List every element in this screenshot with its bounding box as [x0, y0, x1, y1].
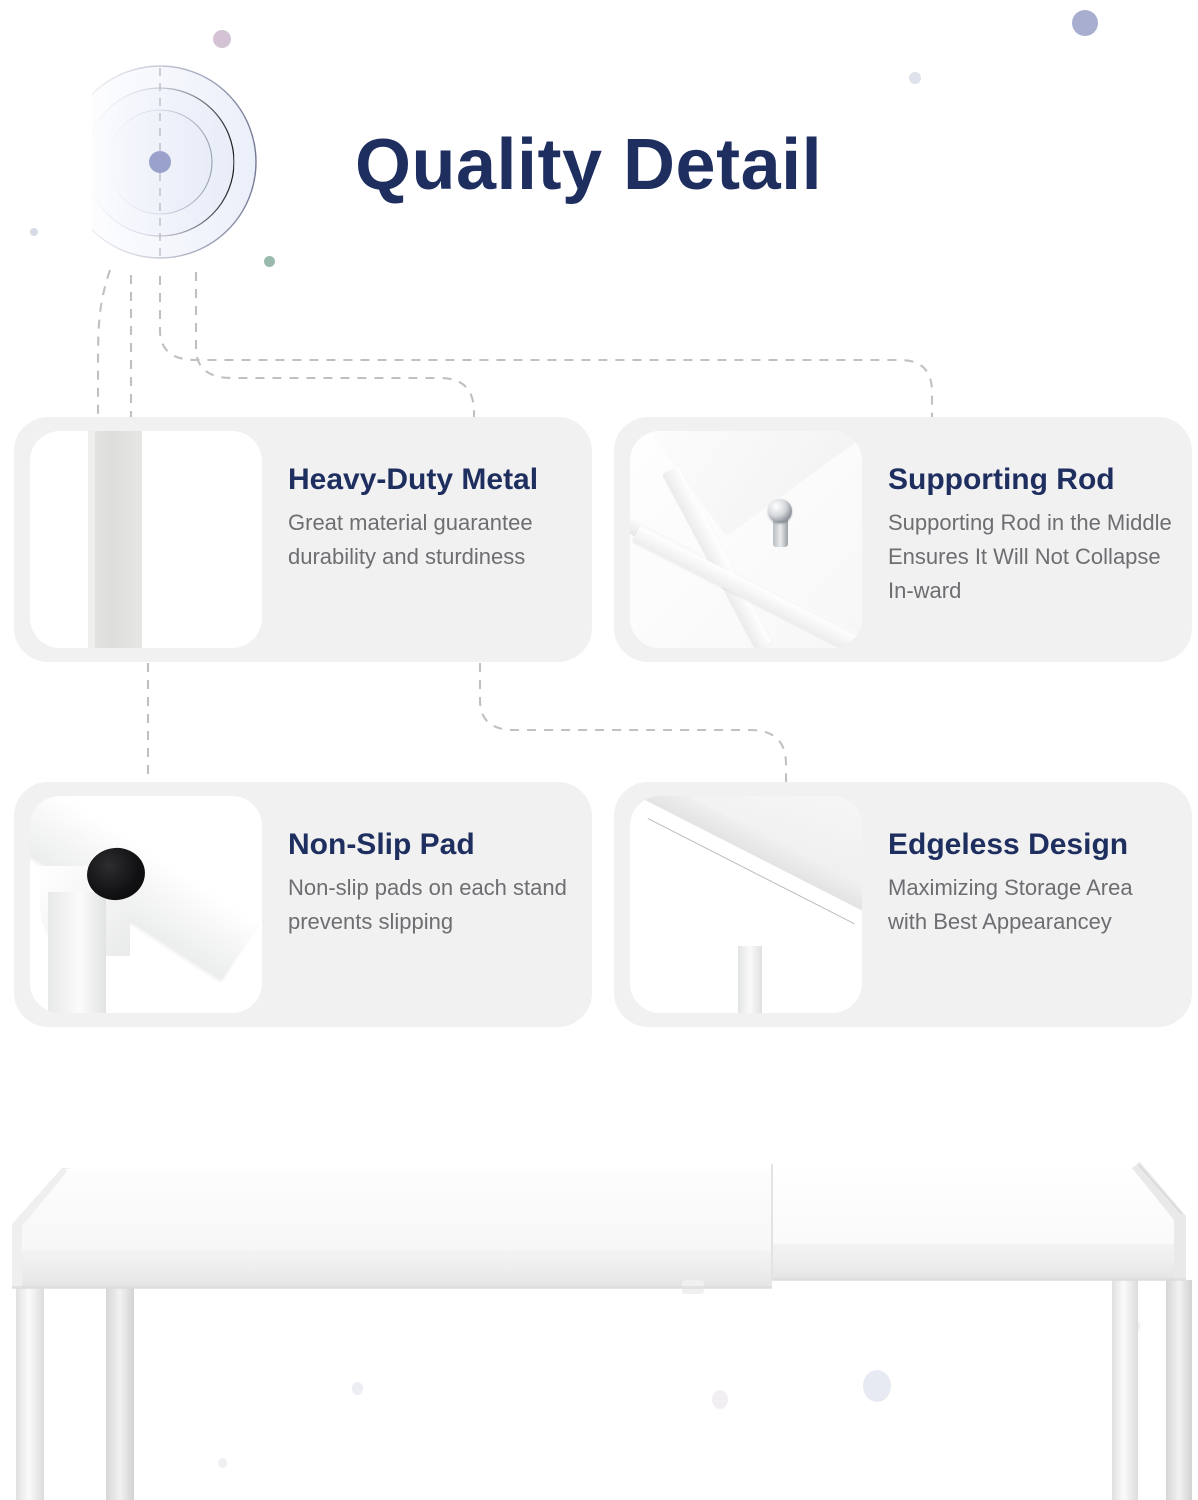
infographic-page: Quality Detail Heavy-Duty Metal Great ma…: [0, 0, 1198, 1500]
feature-description: Non-slip pads on each stand prevents sli…: [288, 871, 576, 939]
white-expandable-shelf-photo: [0, 1120, 1198, 1500]
feature-description: Maximizing Storage Area with Best Appear…: [888, 871, 1176, 939]
feature-card-supporting-rod[interactable]: Supporting Rod Supporting Rod in the Mid…: [614, 417, 1192, 662]
tabletop-surface: [630, 796, 862, 926]
page-title: Quality Detail: [355, 124, 822, 206]
feature-description: Supporting Rod in the Middle Ensures It …: [888, 506, 1176, 608]
non-slip-pad-photo: [30, 796, 262, 1013]
leg-lower-post: [48, 892, 106, 1013]
feature-title: Supporting Rod: [888, 463, 1176, 496]
rod-scene: [630, 431, 862, 648]
feature-title: Edgeless Design: [888, 828, 1176, 861]
feature-card-text: Edgeless Design Maximizing Storage Area …: [862, 782, 1192, 1027]
shelf-leg-back-left: [106, 1288, 134, 1500]
shelf-leg-front-right: [1112, 1280, 1138, 1500]
chrome-screw: [768, 499, 792, 523]
dot-periwinkle-top: [1072, 10, 1098, 36]
feature-title: Heavy-Duty Metal: [288, 463, 576, 496]
feature-card-text: Supporting Rod Supporting Rod in the Mid…: [862, 417, 1192, 662]
feature-description: Great material guarantee durability and …: [288, 506, 576, 574]
shelf-right-front-edge: [772, 1244, 1186, 1280]
radar-target-icon: [92, 62, 292, 267]
metal-bar-highlight: [88, 431, 95, 648]
dot-pale-left: [30, 228, 38, 236]
dot-mauve-top: [213, 30, 231, 48]
edgeless-corner-photo: [630, 796, 862, 1013]
feature-card-heavy-duty-metal[interactable]: Heavy-Duty Metal Great material guarante…: [14, 417, 592, 662]
dot-pale-right: [909, 72, 921, 84]
metal-bar-shape: [88, 431, 142, 648]
metal-bar-photo: [30, 431, 262, 648]
shelf-left-front-edge: [12, 1250, 772, 1288]
supporting-rod-photo: [630, 431, 862, 648]
feature-card-non-slip-pad[interactable]: Non-Slip Pad Non-slip pads on each stand…: [14, 782, 592, 1027]
shelf-leg-front-left: [16, 1288, 44, 1500]
corner-leg: [738, 946, 762, 1013]
shelf-leg-back-right: [1166, 1280, 1192, 1500]
feature-card-text: Non-Slip Pad Non-slip pads on each stand…: [262, 782, 592, 1027]
feature-title: Non-Slip Pad: [288, 828, 576, 861]
feature-card-text: Heavy-Duty Metal Great material guarante…: [262, 417, 592, 662]
feature-card-edgeless-design[interactable]: Edgeless Design Maximizing Storage Area …: [614, 782, 1192, 1027]
